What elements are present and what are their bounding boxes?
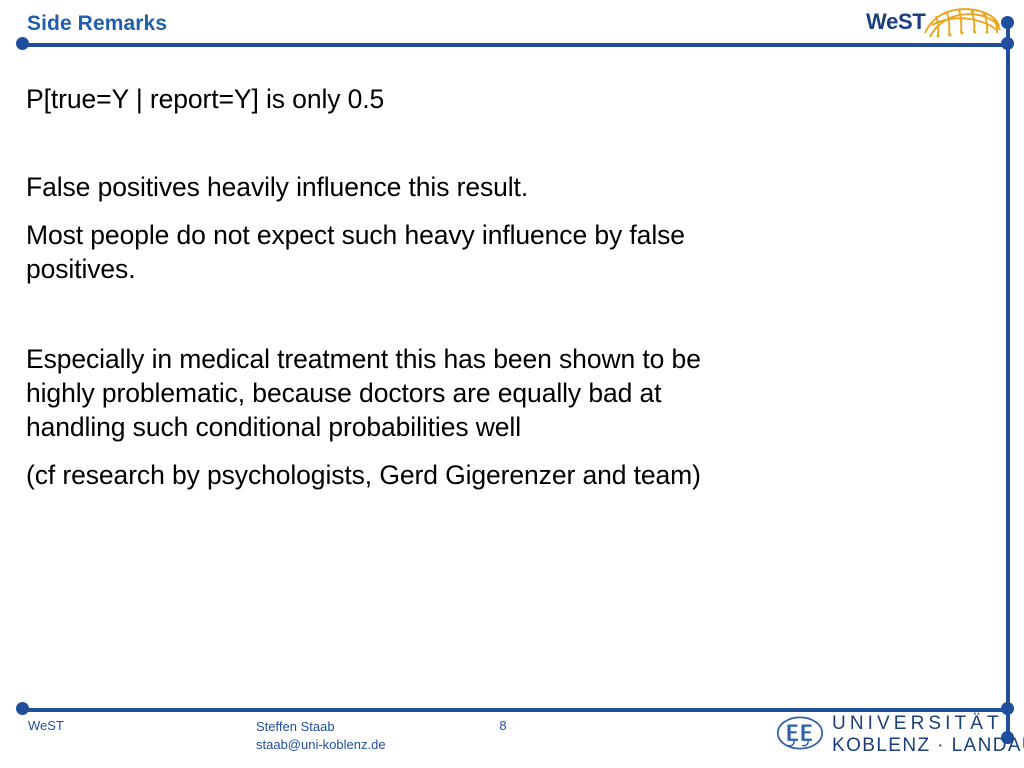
footer-author-block: Steffen Staab staab@uni-koblenz.de: [256, 718, 386, 754]
body-paragraph-3: Most people do not expect such heavy inf…: [26, 218, 956, 286]
body-paragraph-2: False positives heavily influence this r…: [26, 170, 956, 204]
west-logo-text: WeST: [866, 9, 926, 35]
right-border-line: [1006, 22, 1010, 744]
footer-author-email: staab@uni-koblenz.de: [256, 736, 386, 754]
body-paragraph-3-line-2: positives.: [26, 252, 956, 286]
body-paragraph-4: Especially in medical treatment this has…: [26, 342, 956, 444]
footer-author-name: Steffen Staab: [256, 718, 386, 736]
right-line-top-dot: [1001, 16, 1014, 29]
university-logo-line-1: UNIVERSITÄT: [832, 713, 1024, 735]
header-divider: [22, 43, 1010, 47]
body-paragraph-1: P[true=Y | report=Y] is only 0.5: [26, 82, 956, 116]
web-mesh-icon: [923, 6, 1001, 40]
right-line-header-dot: [1001, 37, 1014, 50]
body-paragraph-5: (cf research by psychologists, Gerd Gige…: [26, 458, 956, 492]
university-emblem-icon: [776, 716, 824, 750]
university-logo-text: UNIVERSITÄT KOBLENZ · LANDAU: [832, 713, 1024, 757]
footer-divider-left-dot: [16, 702, 29, 715]
header-divider-left-dot: [16, 37, 29, 50]
page-number: 8: [480, 718, 526, 733]
spacer: [26, 204, 956, 218]
body-paragraph-3-line-1: Most people do not expect such heavy inf…: [26, 218, 956, 252]
spacer: [26, 116, 956, 170]
university-logo-line-2: KOBLENZ · LANDAU: [832, 735, 1024, 757]
university-logo: UNIVERSITÄT KOBLENZ · LANDAU: [776, 712, 998, 760]
body-paragraph-4-line-2: highly problematic, because doctors are …: [26, 376, 956, 410]
body-paragraph-4-line-3: handling such conditional probabilities …: [26, 410, 956, 444]
body-paragraph-4-line-1: Especially in medical treatment this has…: [26, 342, 956, 376]
spacer: [26, 444, 956, 458]
slide-body: P[true=Y | report=Y] is only 0.5 False p…: [26, 82, 956, 492]
footer-west-label: WeST: [28, 718, 64, 733]
page-title: Side Remarks: [27, 12, 167, 36]
west-logo: WeST: [866, 8, 1006, 46]
spacer: [26, 286, 956, 342]
